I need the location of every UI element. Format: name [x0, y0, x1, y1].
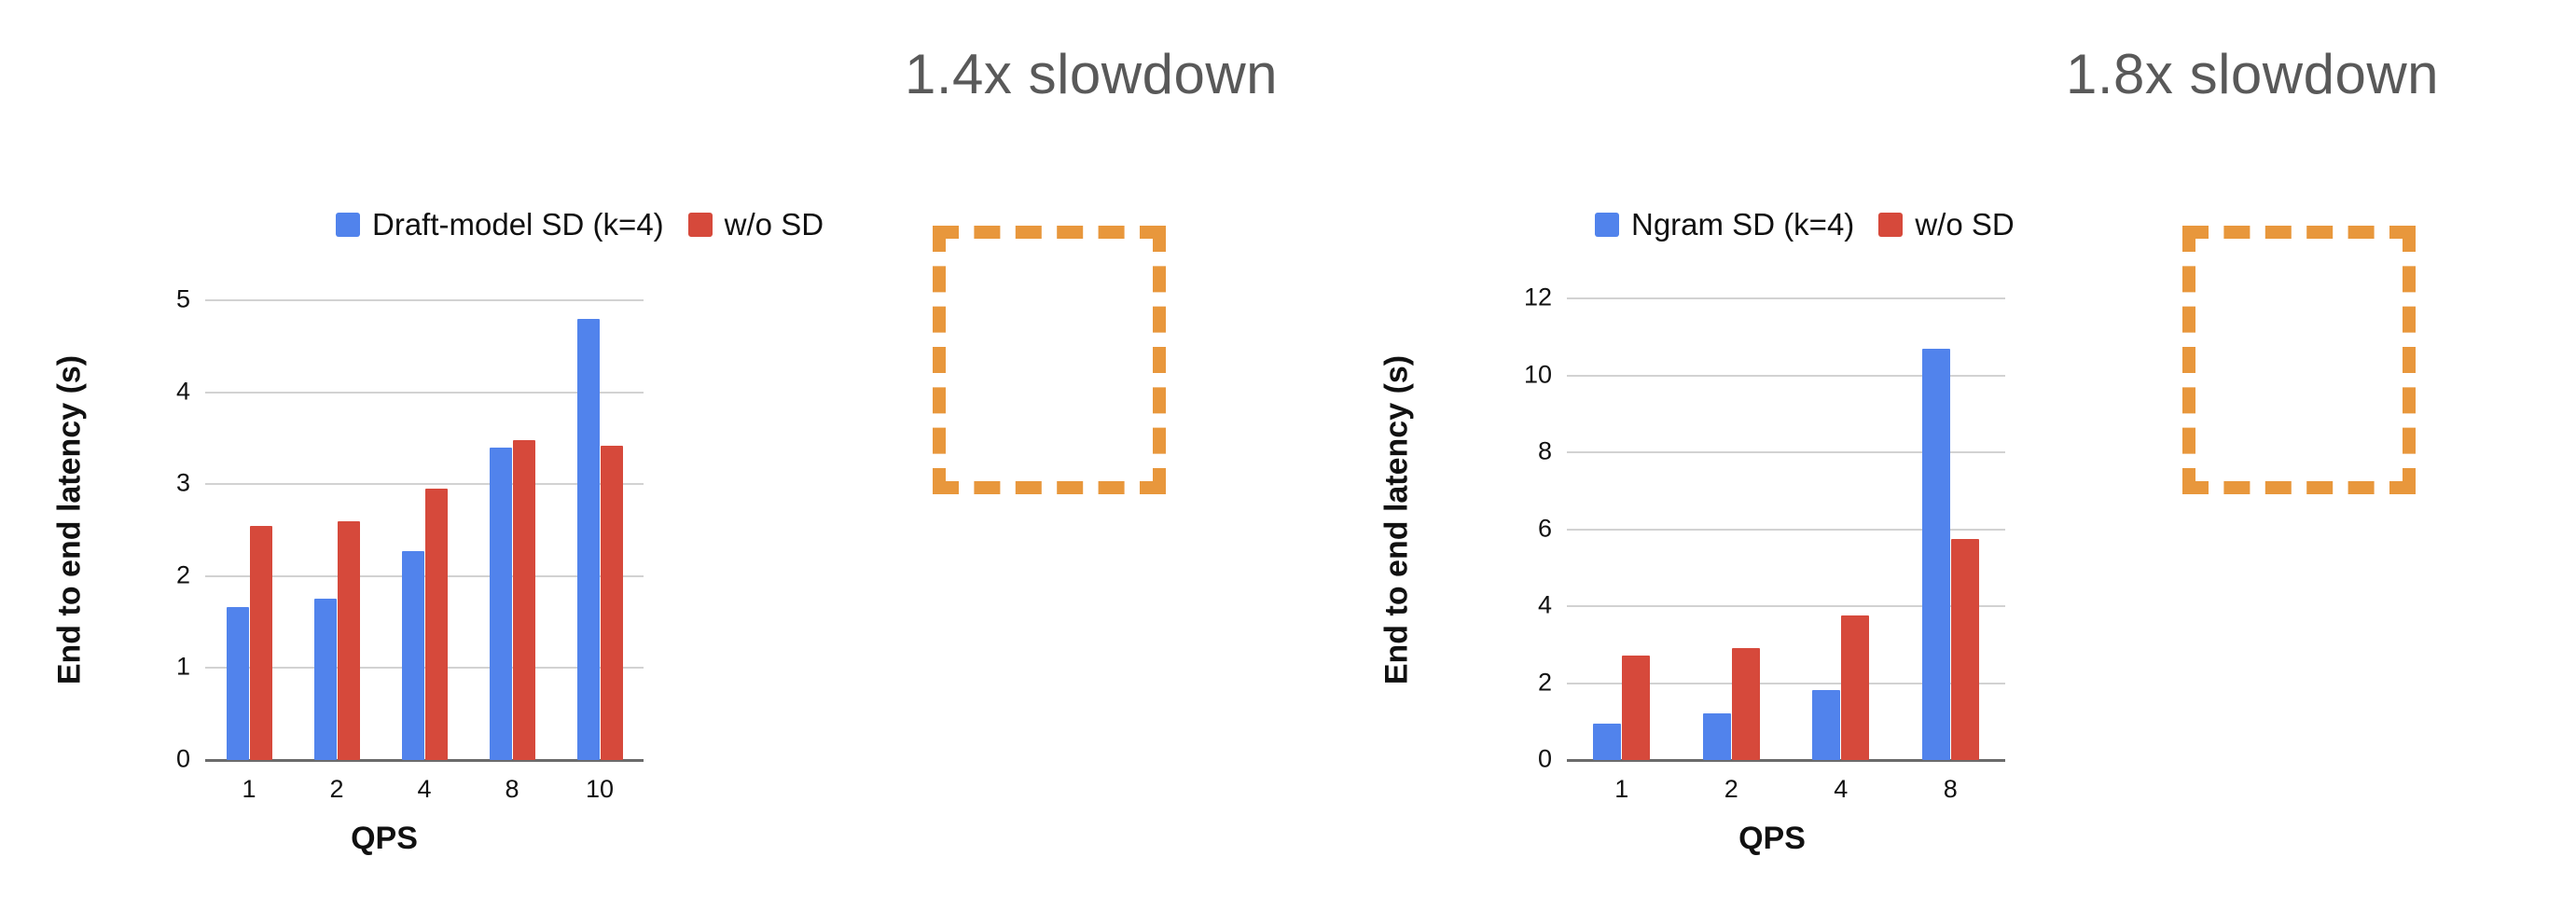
legend-entry-without-sd[interactable]: w/o SD	[1878, 207, 2014, 242]
legend-entry-draft-model-sd[interactable]: Draft-model SD (k=4)	[336, 207, 664, 242]
bar-series-a	[1703, 713, 1731, 760]
legend-label-draft-model-sd: Draft-model SD (k=4)	[372, 207, 664, 242]
legend-swatch-blue-icon	[1595, 213, 1619, 237]
bar-series-b	[338, 521, 360, 760]
slide-canvas: 1.4x slowdown End to end latency (s) Dra…	[0, 0, 2576, 912]
legend-label-without-sd: w/o SD	[1915, 207, 2014, 242]
chart-panel-right: End to end latency (s) Ngram SD (k=4) w/…	[1287, 0, 2576, 912]
legend-label-without-sd: w/o SD	[725, 207, 824, 242]
y-axis-tick-label: 2	[1538, 668, 1552, 697]
y-axis-title-left: End to end latency (s)	[52, 325, 89, 716]
bar-series-a	[314, 599, 337, 760]
legend-swatch-red-icon	[1878, 213, 1903, 237]
x-axis-tick-label: 4	[1834, 775, 1848, 804]
y-axis-tick-label: 12	[1524, 283, 1552, 312]
bar-series-a	[227, 607, 249, 760]
y-axis-tick-label: 4	[1538, 591, 1552, 620]
y-axis-tick-label: 4	[176, 377, 190, 406]
x-axis-title-right: QPS	[1738, 821, 1806, 857]
bar-series-b	[513, 440, 535, 760]
x-axis-tick-label: 4	[417, 775, 431, 804]
x-axis-tick-label: 2	[329, 775, 343, 804]
x-axis-title-left: QPS	[351, 821, 418, 857]
x-axis-tick-label: 2	[1724, 775, 1738, 804]
bar-series-b	[1732, 648, 1760, 760]
bar-series-a	[490, 448, 512, 760]
y-axis-tick-label: 0	[1538, 745, 1552, 774]
bar-series-a	[1593, 724, 1621, 760]
bar-series-b	[1841, 615, 1869, 761]
gridline: 5	[205, 299, 644, 301]
plot-area-left: 012345124810	[205, 300, 644, 760]
highlight-box-left	[933, 226, 1166, 494]
x-axis-tick-label: 1	[242, 775, 256, 804]
bar-series-a	[1922, 349, 1950, 760]
gridline: 12	[1567, 297, 2005, 299]
x-axis-tick-label: 8	[505, 775, 519, 804]
bar-series-b	[601, 446, 623, 760]
chart-panel-left: End to end latency (s) Draft-model SD (k…	[0, 0, 1287, 912]
x-axis-tick-label: 1	[1614, 775, 1628, 804]
chart-legend-left: Draft-model SD (k=4) w/o SD	[336, 207, 824, 242]
legend-entry-ngram-sd[interactable]: Ngram SD (k=4)	[1595, 207, 1854, 242]
bar-series-b	[250, 526, 272, 760]
x-axis-tick-label: 8	[1944, 775, 1958, 804]
y-axis-tick-label: 5	[176, 285, 190, 314]
legend-label-ngram-sd: Ngram SD (k=4)	[1631, 207, 1854, 242]
legend-entry-without-sd[interactable]: w/o SD	[688, 207, 824, 242]
bar-series-a	[1812, 690, 1840, 760]
x-axis-tick-label: 10	[586, 775, 614, 804]
chart-legend-right: Ngram SD (k=4) w/o SD	[1595, 207, 2015, 242]
bar-series-a	[577, 319, 600, 760]
legend-swatch-red-icon	[688, 213, 713, 237]
y-axis-tick-label: 2	[176, 560, 190, 589]
y-axis-tick-label: 8	[1538, 437, 1552, 466]
bar-series-a	[402, 551, 424, 760]
y-axis-tick-label: 10	[1524, 360, 1552, 389]
highlight-box-right	[2182, 226, 2416, 494]
bar-series-b	[1622, 656, 1650, 760]
y-axis-tick-label: 1	[176, 653, 190, 682]
y-axis-tick-label: 0	[176, 745, 190, 774]
bar-series-b	[1951, 539, 1979, 760]
bar-series-b	[425, 489, 448, 760]
y-axis-tick-label: 3	[176, 469, 190, 498]
y-axis-tick-label: 6	[1538, 514, 1552, 543]
legend-swatch-blue-icon	[336, 213, 360, 237]
plot-area-right: 0246810121248	[1567, 298, 2005, 760]
y-axis-title-right: End to end latency (s)	[1379, 325, 1416, 716]
